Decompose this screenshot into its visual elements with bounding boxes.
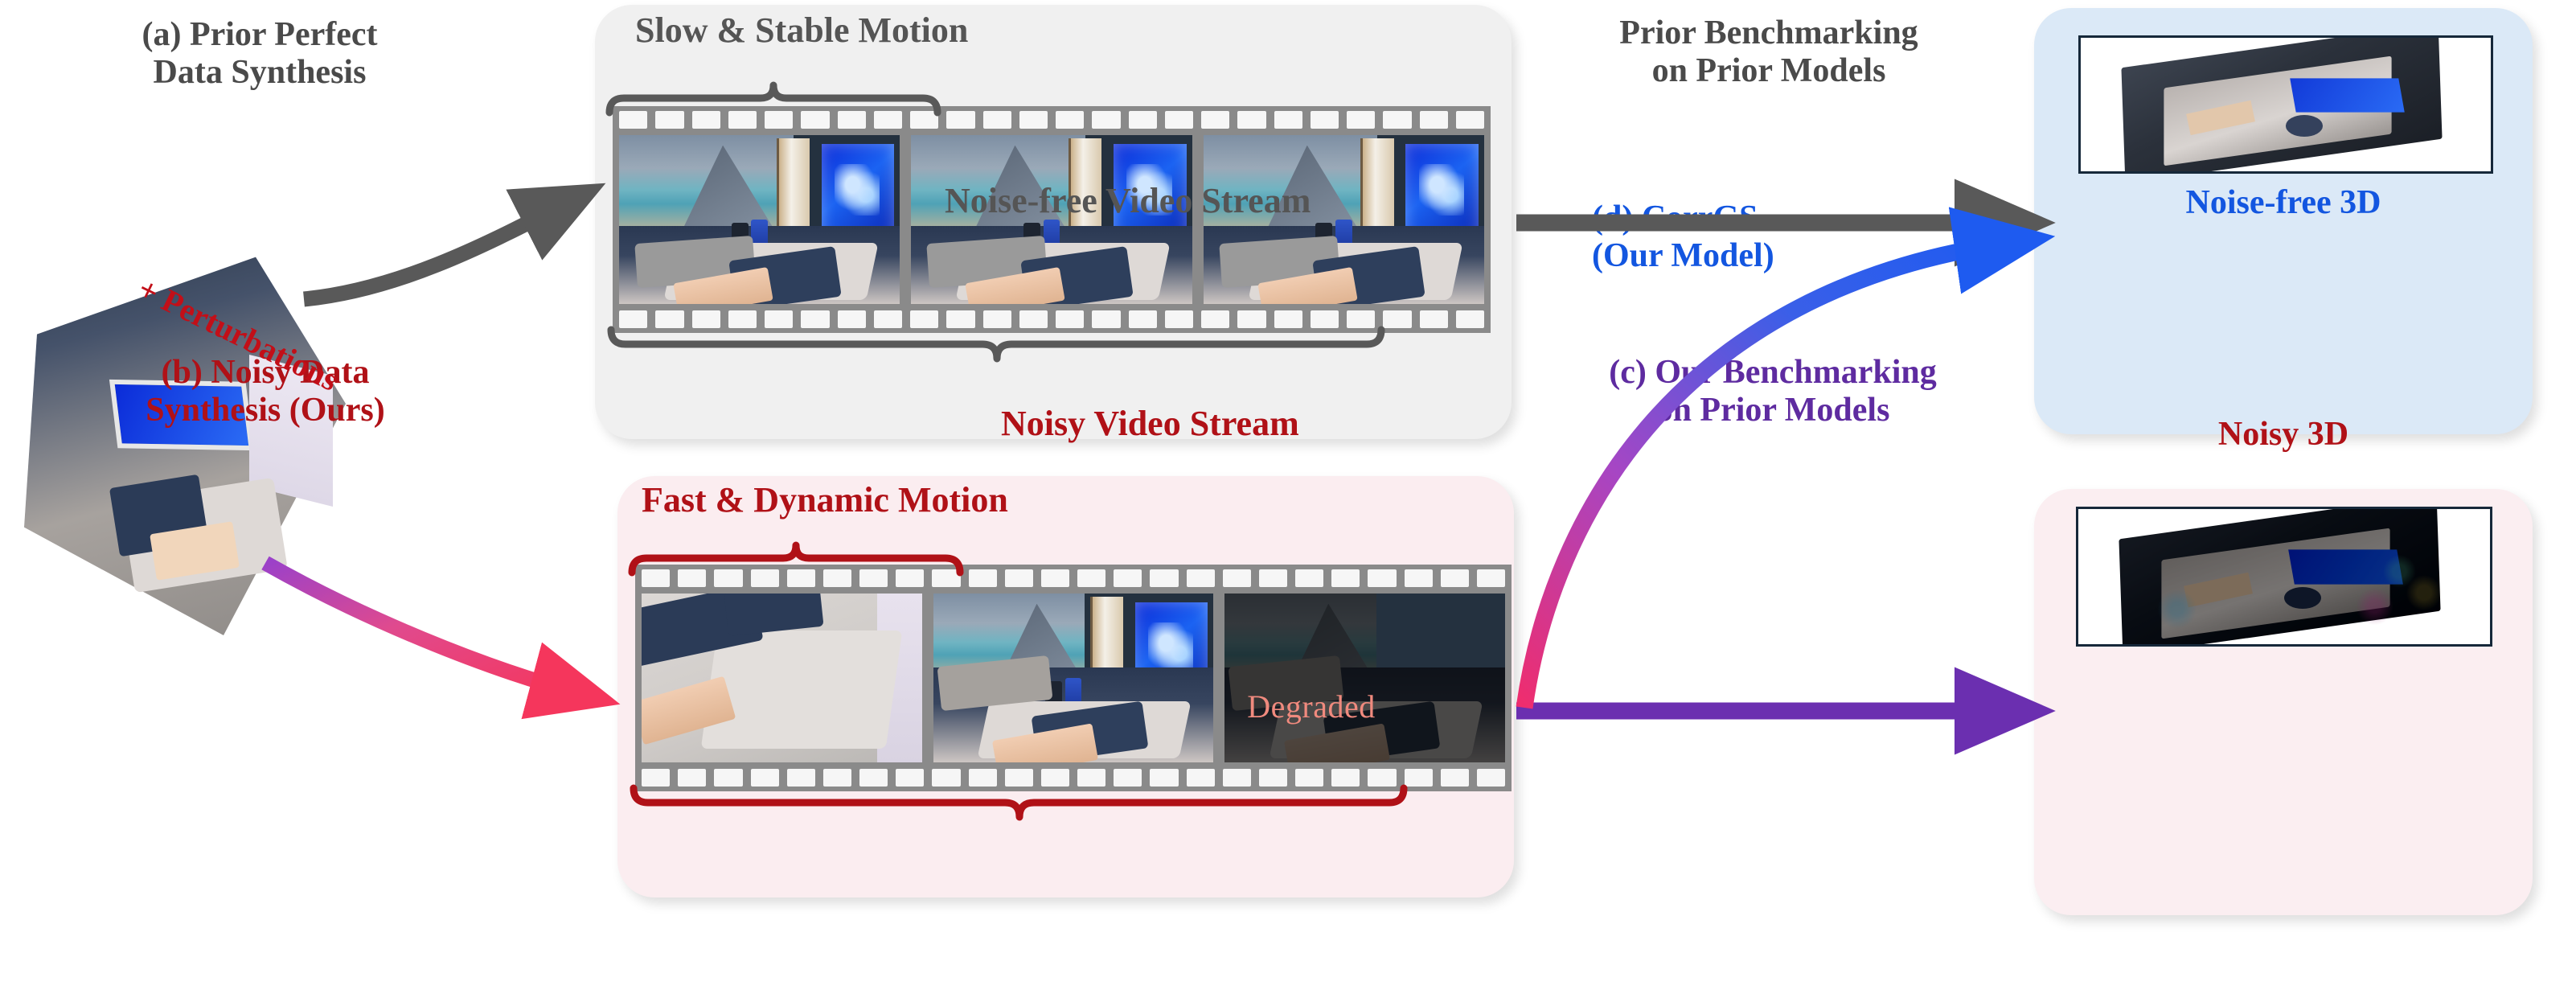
noisy-frame-row: Degraded <box>642 594 1505 762</box>
clean-video-frame-1 <box>619 135 900 304</box>
perforation <box>1114 569 1142 587</box>
perforation <box>1274 111 1302 129</box>
prior-benchmarking-line2: on Prior Models <box>1544 52 1994 90</box>
noisy-video-frame-2 <box>933 594 1214 762</box>
perforation <box>642 569 670 587</box>
perforation <box>823 769 851 787</box>
degraded-label: Degraded <box>1247 688 1375 725</box>
perforation <box>1237 111 1265 129</box>
perforation <box>1311 310 1339 328</box>
mesh-floor <box>2162 528 2390 639</box>
perforation <box>1347 111 1375 129</box>
perforation <box>1295 769 1323 787</box>
perforation <box>1201 111 1229 129</box>
perforation <box>1420 310 1448 328</box>
perforation <box>1041 769 1069 787</box>
perforation <box>787 769 815 787</box>
room-render-degraded <box>1224 594 1505 762</box>
room-render <box>619 135 900 304</box>
perforation <box>678 769 706 787</box>
perforation <box>1420 111 1448 129</box>
perforation <box>1383 111 1411 129</box>
noise-free-3d-label: Noise-free 3D <box>2034 183 2533 222</box>
film-perforations-bottom <box>613 306 1491 333</box>
perforation <box>1223 769 1251 787</box>
perforation <box>1092 111 1120 129</box>
perforation <box>1441 569 1469 587</box>
our-benchmarking-line1: (c) Our Benchmarking <box>1536 354 2010 392</box>
noisy-3d-label: Noisy 3D <box>2034 415 2533 454</box>
perforation <box>896 569 924 587</box>
perforation <box>1129 310 1157 328</box>
prior-benchmarking-caption: Prior Benchmarking on Prior Models <box>1544 14 1994 90</box>
perforation <box>969 569 997 587</box>
noisy-video-frame-1 <box>642 594 922 762</box>
perforation <box>932 569 960 587</box>
our-benchmarking-line2: on Prior Models <box>1536 392 2010 429</box>
caption-b-line2: Synthesis (Ours) <box>72 392 458 429</box>
perforation <box>1165 111 1193 129</box>
perforation <box>801 111 829 129</box>
wall-display <box>1405 144 1479 239</box>
perforation <box>910 310 938 328</box>
our-benchmarking-caption: (c) Our Benchmarking on Prior Models <box>1536 354 2010 429</box>
room-render <box>642 594 922 762</box>
perforation <box>1077 769 1105 787</box>
mesh-screen <box>2290 78 2404 113</box>
film-perforations-top <box>613 106 1491 133</box>
perforation <box>751 769 779 787</box>
perforation <box>1331 769 1360 787</box>
caption-a-line2: Data Synthesis <box>87 54 433 92</box>
figure-canvas: (a) Prior Perfect Data Synthesis (b) Noi… <box>0 0 2576 994</box>
mesh-shell <box>2119 507 2442 647</box>
perforation <box>1056 310 1084 328</box>
perforation <box>1187 769 1215 787</box>
perforation <box>1477 769 1505 787</box>
perforation <box>642 769 670 787</box>
rug <box>700 630 902 749</box>
perforation <box>1165 310 1193 328</box>
perforation <box>1274 310 1302 328</box>
noise-free-3d-thumbnail <box>2078 35 2493 174</box>
noisy-video-stream-title: Noisy Video Stream <box>1001 406 1299 442</box>
perforation <box>1441 769 1469 787</box>
mesh-screen <box>2288 550 2403 585</box>
perforation <box>801 310 829 328</box>
mesh-render-noisy <box>2078 509 2490 644</box>
perforation <box>655 310 683 328</box>
perforation <box>1150 569 1178 587</box>
perforation <box>1405 769 1433 787</box>
film-perforations-bottom <box>635 764 1512 791</box>
noisy-video-frame-3: Degraded <box>1224 594 1505 762</box>
film-perforations-top <box>635 565 1512 592</box>
perforation <box>1259 569 1287 587</box>
perforation <box>859 569 888 587</box>
corrgs-caption: (d) CorrGS (Our Model) <box>1592 199 1881 275</box>
perforation <box>1259 769 1287 787</box>
perforation <box>728 111 757 129</box>
perforation <box>1056 111 1084 129</box>
slow-stable-motion-title: Slow & Stable Motion <box>635 13 968 48</box>
perforation <box>1456 111 1484 129</box>
perforation <box>1114 769 1142 787</box>
perforation <box>728 310 757 328</box>
perforation <box>1019 310 1048 328</box>
perforation <box>946 111 974 129</box>
perforation <box>859 769 888 787</box>
caption-a: (a) Prior Perfect Data Synthesis <box>87 16 433 92</box>
corrgs-line2: (Our Model) <box>1592 237 1881 275</box>
corrgs-line1: (d) CorrGS <box>1592 199 1881 237</box>
perforation <box>1295 569 1323 587</box>
perforation <box>1187 569 1215 587</box>
perforation <box>692 111 720 129</box>
perforation <box>1311 111 1339 129</box>
mesh-chair <box>2286 115 2323 137</box>
fast-dynamic-motion-title: Fast & Dynamic Motion <box>642 483 1008 518</box>
perforation <box>765 111 793 129</box>
perforation <box>983 310 1011 328</box>
perforation <box>1019 111 1048 129</box>
mesh-render <box>2081 38 2491 171</box>
perforation <box>1223 569 1251 587</box>
perforation <box>692 310 720 328</box>
perforation <box>751 569 779 587</box>
perforation <box>1456 310 1484 328</box>
perforation <box>1150 769 1178 787</box>
perforation <box>983 111 1011 129</box>
perforation <box>1077 569 1105 587</box>
caption-a-line1: (a) Prior Perfect <box>87 16 433 54</box>
perforation <box>619 111 647 129</box>
perforation <box>946 310 974 328</box>
perforation <box>1005 769 1033 787</box>
perforation <box>678 569 706 587</box>
perforation <box>1331 569 1360 587</box>
noisy-film-strip: Degraded <box>635 565 1512 791</box>
perforation <box>655 111 683 129</box>
perforation <box>1405 569 1433 587</box>
wall-display <box>822 144 895 239</box>
perforation <box>765 310 793 328</box>
mesh-table <box>2184 573 2253 607</box>
perforation <box>1092 310 1120 328</box>
perforation <box>1368 569 1396 587</box>
perforation <box>714 569 742 587</box>
perforation <box>1347 310 1375 328</box>
perforation <box>874 111 902 129</box>
perforation <box>1005 569 1033 587</box>
noise-free-video-stream-title: Noise-free Video Stream <box>945 183 1311 219</box>
perforation <box>714 769 742 787</box>
perforation <box>969 769 997 787</box>
mesh-chair <box>2284 587 2321 609</box>
perforation <box>910 111 938 129</box>
perforation <box>1383 310 1411 328</box>
perforation <box>823 569 851 587</box>
perforation <box>1041 569 1069 587</box>
perforation <box>1201 310 1229 328</box>
perforation <box>932 769 960 787</box>
perforation <box>1477 569 1505 587</box>
arrow-corrgs <box>1524 243 2008 708</box>
perforation <box>1237 310 1265 328</box>
perforation <box>896 769 924 787</box>
prior-benchmarking-line1: Prior Benchmarking <box>1544 14 1994 52</box>
perforation <box>1368 769 1396 787</box>
perforation <box>1129 111 1157 129</box>
perforation <box>838 111 866 129</box>
perforation <box>838 310 866 328</box>
perforation <box>874 310 902 328</box>
room-render <box>933 594 1214 762</box>
perforation <box>619 310 647 328</box>
perforation <box>787 569 815 587</box>
noisy-3d-thumbnail <box>2076 507 2492 647</box>
